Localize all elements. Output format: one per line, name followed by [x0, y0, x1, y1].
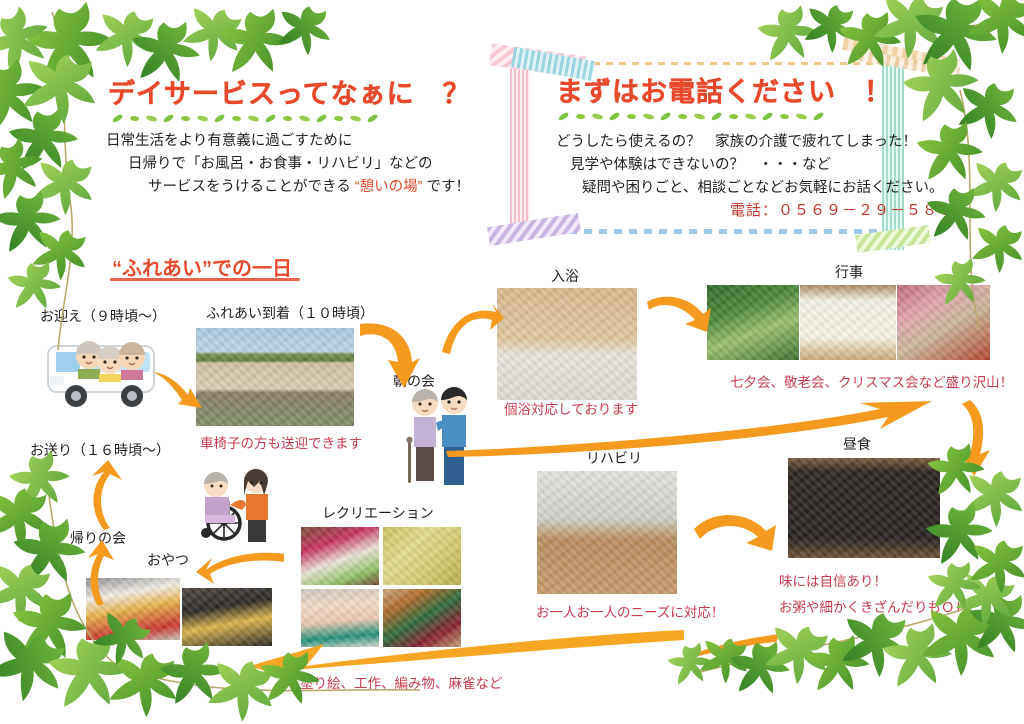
- title-dash-decoration-left: [112, 108, 412, 124]
- photo-event-flowers: [897, 285, 990, 360]
- photo-recreation-craft-4: [383, 589, 461, 647]
- arrow-lunch-back-left: [672, 628, 782, 672]
- step-label-pickup: お迎え（９時頃～）: [40, 306, 166, 326]
- left-panel-line-3-head: サービスをうけることができる: [148, 179, 355, 195]
- right-panel-line-1: どうしたら使えるの？ 家族の介護で疲れてしまった！: [556, 131, 917, 154]
- caregiver-and-senior-icon: [400, 385, 478, 493]
- arrow-events-to-lunch: [950, 398, 1004, 478]
- bus-with-seniors-icon: [42, 330, 166, 416]
- wheelchair-assist-icon: [190, 465, 282, 543]
- phone-label: 電話：: [730, 202, 778, 219]
- left-panel-line-3: サービスをうけることができる “憩いの場” です！: [148, 176, 470, 199]
- phone-number: ０５６９－２９－５８５８: [778, 202, 970, 219]
- step-label-snack: おやつ: [147, 550, 189, 570]
- caption-arrive: 車椅子の方も送迎できます: [200, 432, 362, 452]
- title-dash-decoration-right: [558, 106, 858, 122]
- photo-facility-building: [196, 328, 354, 426]
- flow-heading: “ふれあい”での一日: [112, 252, 292, 281]
- left-panel-line-2: 日帰りで「お風呂・お食事・リハビリ」などの: [128, 153, 433, 176]
- caption-bath: 個浴対応しております: [504, 398, 638, 418]
- step-label-events: 行事: [835, 262, 863, 282]
- washi-tape-pink-vertical: [510, 58, 530, 230]
- phone-line: 電話：０５６９－２９－５８５８: [730, 199, 970, 220]
- step-label-closing: 帰りの会: [70, 528, 126, 548]
- step-label-dropoff: お送り（１６時頃～）: [30, 440, 170, 460]
- step-label-lunch: 昼食: [843, 434, 871, 454]
- photo-rehab-room: [537, 471, 677, 594]
- flow-heading-underline: [110, 278, 300, 281]
- caption-rehab: お一人お一人のニーズに対応！: [536, 601, 724, 621]
- photo-recreation-craft-2: [383, 527, 461, 585]
- photo-bathroom: [497, 288, 637, 400]
- flyer-page: デイサービスってなぁに ？ 日常生活をより有意義に過ごすために 日帰りで「お風呂…: [0, 0, 1024, 724]
- photo-recreation-craft-3: [301, 589, 379, 647]
- left-panel-line-3-tail: です！: [422, 179, 470, 195]
- step-label-arrive: ふれあい到着（１０時頃）: [206, 303, 374, 323]
- photo-lunch-tray: [788, 458, 940, 558]
- step-label-bath: 入浴: [551, 266, 579, 286]
- arrow-recreation-to-snack: [194, 548, 286, 592]
- right-panel-line-3: 疑問や困りごと、相談ごとなどお気軽にお話ください。: [582, 177, 943, 200]
- caption-events: 七夕会、敬老会、クリスマス会など盛り沢山！: [730, 371, 1013, 391]
- arrow-rehab-to-lunch: [692, 505, 784, 561]
- photo-event-tanabata: [707, 285, 799, 360]
- step-label-recreation: レクリエーション: [322, 503, 434, 523]
- caption-recreation: 塗り絵、工作、編み物、麻雀など: [300, 672, 503, 692]
- photo-recreation-craft-1: [301, 527, 379, 585]
- right-panel-line-2: 見学や体験はできないの？ ・・・など: [570, 154, 831, 177]
- photo-event-respect-for-aged: [800, 285, 896, 360]
- left-panel-line-1: 日常生活をより有意義に過ごすために: [106, 130, 352, 153]
- right-panel-title: まずはお電話ください ！: [556, 70, 892, 109]
- caption-lunch-1: 味には自信あり！: [779, 570, 887, 590]
- caption-lunch-2: お粥や細かくきざんだりもＯＫ！: [779, 596, 982, 616]
- photo-snack-1: [86, 578, 180, 640]
- left-panel-highlight: “憩いの場”: [355, 179, 423, 195]
- left-panel-title: デイサービスってなぁに ？: [108, 72, 471, 111]
- arrow-closing-to-dropoff: [82, 460, 128, 532]
- step-label-rehab: リハビリ: [586, 448, 642, 468]
- photo-snack-2: [182, 588, 272, 646]
